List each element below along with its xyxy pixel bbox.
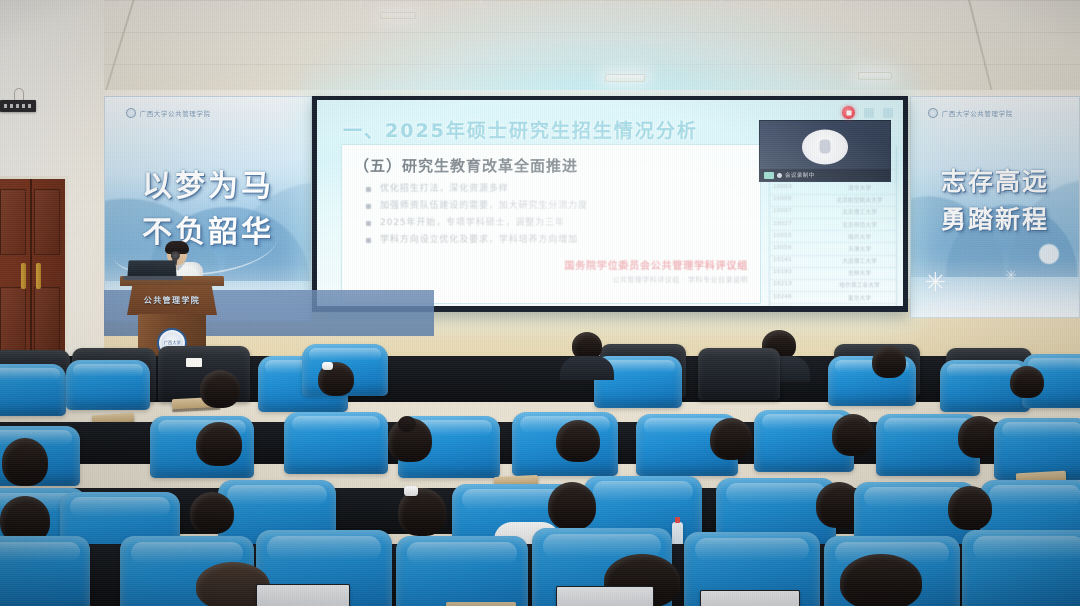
banner-right-slogan: 志存高远 勇踏新程 (911, 163, 1079, 238)
slide-bullet-list: 优化招生打法，深化资源多样 加强师资队伍建设的需要，加大研究生分流力度 2025… (366, 181, 756, 249)
sign-hanger (14, 88, 24, 100)
banner-left-line1: 以梦为马 (105, 164, 311, 210)
table-row: 10003清华大学 (770, 182, 896, 194)
table-cell: 10183 (773, 269, 826, 277)
hair-scrunchie (322, 362, 333, 370)
audience-shoulders (560, 356, 614, 380)
table-row: 10007北京理工大学 (770, 207, 896, 219)
audience-head (196, 422, 242, 466)
audience-head (190, 492, 234, 534)
table-row: 10213哈尔滨工业大学 (770, 280, 896, 292)
slide-section-heading: （五）研究生教育改革全面推进 (354, 155, 578, 176)
audience-head (872, 346, 906, 378)
table-cell: 哈尔滨工业大学 (826, 281, 893, 289)
table-cell: 天津大学 (826, 245, 893, 253)
more-icon[interactable] (883, 108, 893, 118)
chair-seat[interactable] (396, 536, 528, 606)
door-panel (34, 189, 60, 255)
table-row: 10055南开大学 (770, 231, 896, 243)
banner-right-org: 广西大学公共管理学院 (942, 108, 1013, 118)
table-cell: 10246 (773, 294, 826, 302)
audience-laptop[interactable] (256, 584, 350, 606)
audience-head (548, 482, 596, 530)
banner-left-slogan: 以梦为马 不负韶华 (105, 164, 311, 255)
audience-head (840, 554, 922, 606)
table-row: 10027北京师范大学 (770, 219, 896, 231)
table-cell: 南开大学 (826, 233, 893, 241)
video-overlay-statusbar: 会议录制中 (760, 169, 890, 181)
table-cell: 北京航空航天大学 (826, 196, 893, 204)
audience-head (556, 420, 600, 462)
table-row: 10006北京航空航天大学 (770, 195, 896, 207)
slide-bullet: 学科方向设立优化及要求，学科培养方向增加 (366, 232, 756, 249)
chair-seat[interactable] (284, 412, 388, 474)
door-panel (0, 189, 26, 255)
table-cell: 10141 (773, 257, 826, 265)
door-handle-right[interactable] (36, 263, 41, 289)
audience-head (832, 414, 874, 456)
audience-head (2, 438, 48, 486)
table-cell: 北京理工大学 (826, 208, 893, 216)
table-cell: 北京师范大学 (826, 221, 893, 229)
audience-laptop[interactable] (556, 586, 654, 606)
table-cell: 清华大学 (826, 184, 893, 192)
chair-seat[interactable] (0, 536, 90, 606)
participant-avatar (802, 130, 848, 165)
table-cell: 大连理工大学 (826, 257, 893, 265)
banner-moon-deco (1039, 244, 1059, 264)
banner-left-logo: 广西大学公共管理学院 (126, 108, 211, 118)
exit-sign (0, 100, 36, 112)
table-row: 10141大连理工大学 (770, 256, 896, 268)
university-seal-icon (928, 108, 938, 118)
ceiling-light-2 (605, 74, 646, 82)
table-cell: 10213 (773, 281, 826, 289)
video-conference-overlay[interactable]: 会议录制中 (759, 120, 891, 182)
presenter-laptop[interactable] (127, 260, 176, 277)
banner-right-line2: 勇踏新程 (911, 201, 1079, 239)
chair-seat[interactable] (0, 364, 66, 416)
table-row: 10246复旦大学 (770, 292, 896, 304)
paper-note (186, 358, 202, 367)
slide-toolbar[interactable] (842, 106, 893, 119)
banner-snowflake-icon: ✳ (1005, 268, 1017, 282)
record-icon[interactable] (842, 106, 855, 119)
table-cell: 复旦大学 (826, 294, 893, 302)
lecture-hall-photo: 广西大学公共管理学院 以梦为马 不负韶华 广西大学公共管理学院 ✳ ✳ 志存高远… (0, 0, 1080, 606)
banner-left-line2: 不负韶华 (105, 210, 311, 256)
audience-seating-area (0, 330, 1080, 606)
video-overlay-label: 会议录制中 (785, 171, 815, 179)
audience-head (948, 486, 992, 530)
university-seal-icon (126, 108, 136, 118)
table-cell: 10006 (773, 196, 826, 204)
chair-seat[interactable] (962, 530, 1080, 606)
wall-banner-right: 广西大学公共管理学院 ✳ ✳ 志存高远 勇踏新程 (910, 96, 1080, 318)
audience-head (1010, 366, 1044, 398)
slide-bullet: 优化招生打法，深化资源多样 (366, 181, 756, 198)
audience-head (200, 370, 240, 408)
banner-right-line1: 志存高远 (911, 163, 1079, 201)
hair-scrunchie (404, 486, 418, 496)
table-cell: 吉林大学 (826, 269, 893, 277)
banner-left-org: 广西大学公共管理学院 (140, 108, 211, 118)
slide-content-card: （五）研究生教育改革全面推进 优化招生打法，深化资源多样 加强师资队伍建设的需要… (341, 144, 761, 304)
chair-back-dark (698, 348, 780, 400)
chair-seat[interactable] (66, 360, 150, 410)
slide-red-note: 国务院学位委员会公共管理学科评议组 (342, 257, 760, 272)
audience-head (710, 418, 752, 460)
slide-bullet: 2025年开始，专项学科硕士，调整为三年 (366, 215, 756, 232)
grid-icon[interactable] (864, 108, 874, 118)
podium-front-face: 公共管理学院 (127, 285, 217, 315)
chair-seat[interactable] (994, 418, 1080, 480)
ceiling (0, 0, 1080, 96)
ceiling-light-3 (858, 72, 893, 80)
banner-right-logo: 广西大学公共管理学院 (928, 108, 1013, 118)
podium-label: 公共管理学院 (144, 295, 200, 306)
projection-screen-frame: 一、2025年硕士研究生招生情况分析 （五）研究生教育改革全面推进 优化招生打法… (312, 96, 908, 312)
table-cell: 10027 (773, 221, 826, 229)
table-cell: 10056 (773, 245, 826, 253)
table-row: 10183吉林大学 (770, 268, 896, 280)
audience-laptop[interactable] (700, 590, 800, 606)
slide-bullet: 加强师资队伍建设的需要，加大研究生分流力度 (366, 198, 756, 215)
table-cell: 10007 (773, 208, 826, 216)
door-handle-left[interactable] (21, 263, 26, 289)
table-row: 10248上海交通大学 (770, 304, 896, 306)
slide-red-note-sub: 公共管理学科评议组 · 学科专业目录说明 (342, 275, 760, 285)
table-cell: 10003 (773, 184, 826, 192)
video-chip-icon (764, 172, 774, 179)
banner-snowflake-icon: ✳ (924, 269, 946, 295)
writing-tablet-arm[interactable] (446, 602, 516, 606)
table-cell: 10055 (773, 233, 826, 241)
recording-dot-icon (777, 173, 782, 178)
projection-screen[interactable]: 一、2025年硕士研究生招生情况分析 （五）研究生教育改革全面推进 优化招生打法… (317, 100, 903, 306)
ceiling-light-4 (380, 12, 416, 19)
hair-bun (398, 416, 416, 432)
table-row: 10056天津大学 (770, 243, 896, 255)
